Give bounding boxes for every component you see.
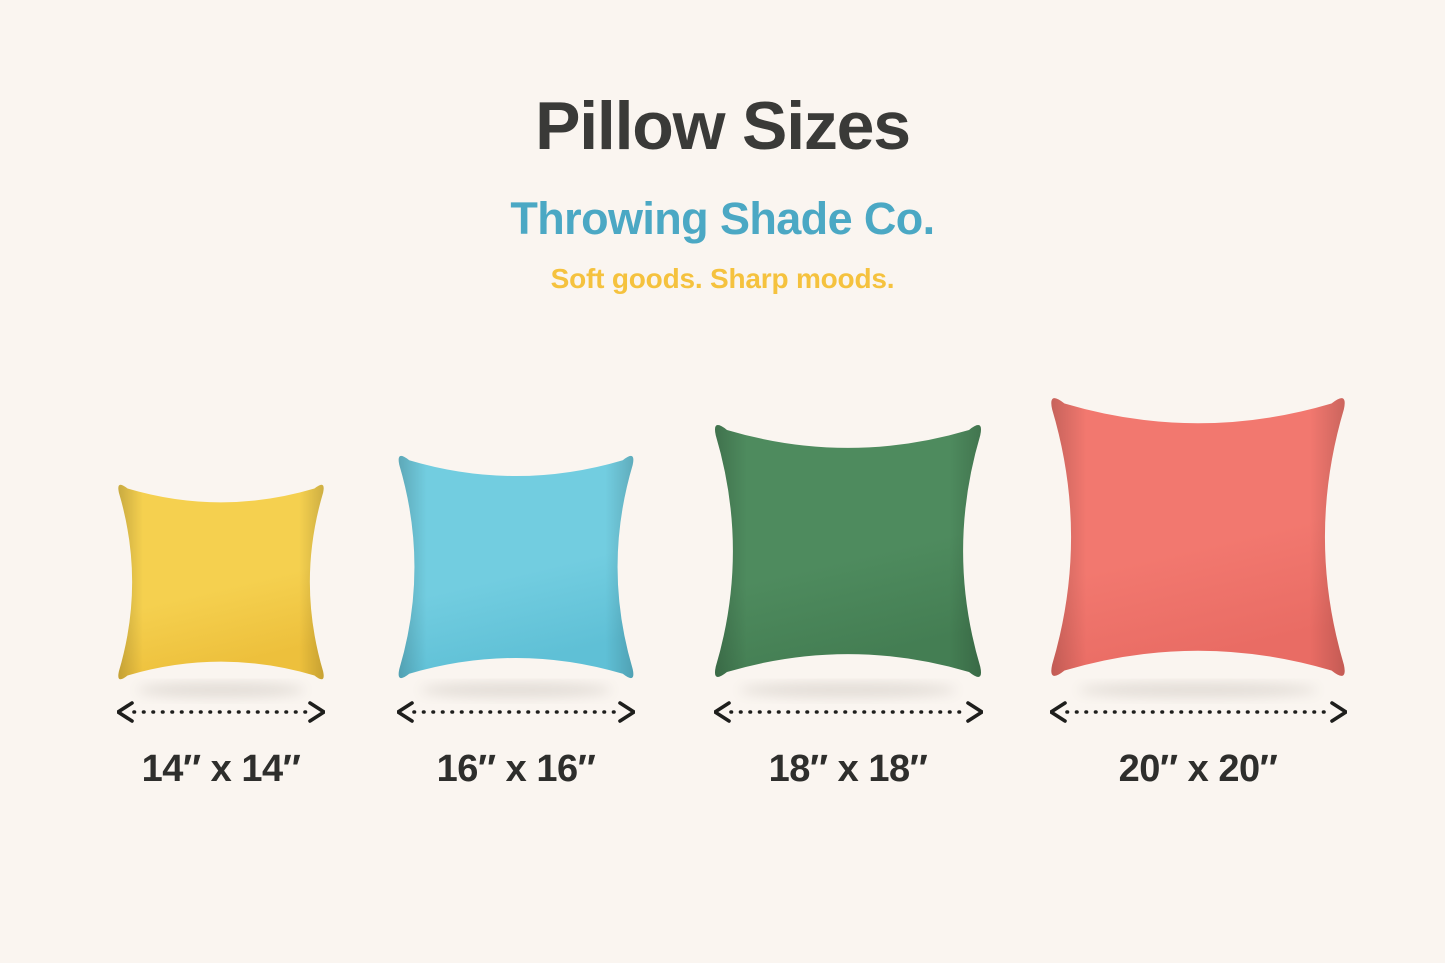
double-headed-dotted-arrow-icon — [714, 699, 983, 725]
double-headed-dotted-arrow-icon — [397, 699, 635, 725]
dimension-arrow-16in — [397, 699, 635, 730]
pillow-shape-icon — [116, 477, 326, 703]
pillow-shape-icon — [396, 447, 636, 703]
double-headed-dotted-arrow-icon — [117, 699, 325, 725]
pillow-shape-icon — [712, 415, 984, 703]
size-label-20in: 20″ x 20″ — [998, 748, 1398, 791]
pillow-size-chart-page: Pillow Sizes Throwing Shade Co. Soft goo… — [0, 0, 1445, 963]
dimension-arrow-18in — [714, 699, 983, 730]
size-label-18in: 18″ x 18″ — [648, 748, 1048, 791]
pillow-18in[interactable] — [712, 415, 984, 687]
pillow-shape-icon — [1048, 387, 1348, 703]
pillow-row: 14″ x 14″16″ x 16″18″ x 18″20″ x 20″ — [0, 0, 1445, 963]
pillow-14in[interactable] — [116, 477, 326, 687]
dimension-arrow-14in — [117, 699, 325, 730]
dimension-arrow-20in — [1050, 699, 1347, 730]
double-headed-dotted-arrow-icon — [1050, 699, 1347, 725]
pillow-20in[interactable] — [1048, 387, 1348, 687]
pillow-16in[interactable] — [396, 447, 636, 687]
